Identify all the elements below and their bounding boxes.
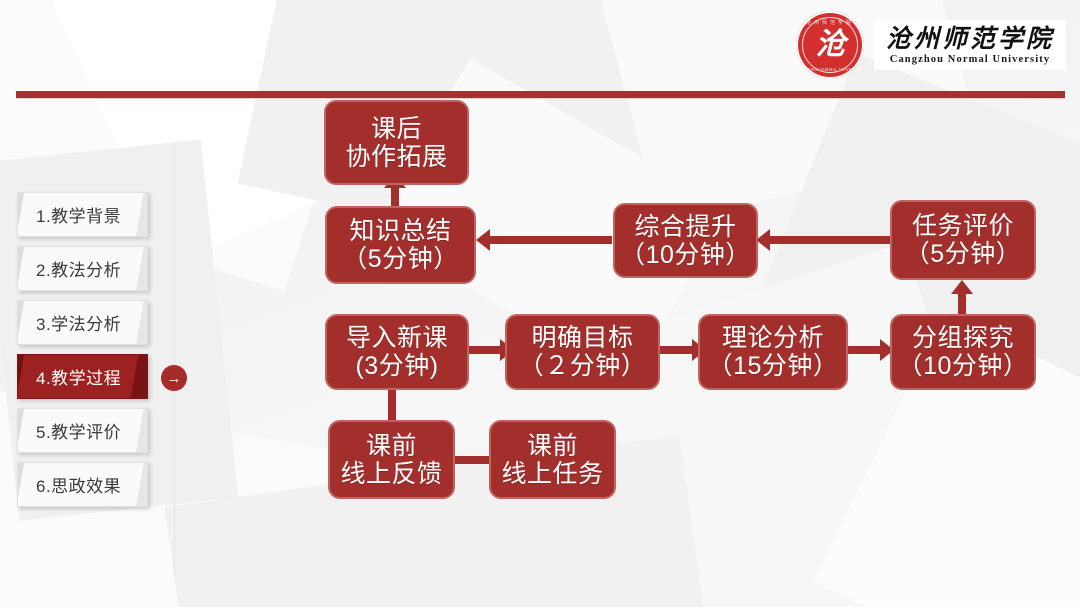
node-clear-goal-line1: 明确目标 [531,324,633,352]
node-post-class-line1: 课后 [371,115,422,143]
node-theory-analysis-line1: 理论分析 [722,324,824,352]
teaching-process-flowchart: 课后 协作拓展 知识总结 （5分钟） 综合提升 （10分钟） 任务评价 （5分钟… [0,0,1080,607]
node-clear-goal[interactable]: 明确目标 （２分钟） [505,314,660,390]
node-comprehensive-line1: 综合提升 [634,213,736,241]
node-pre-class-feedback-line1: 课前 [366,432,417,460]
node-task-evaluation[interactable]: 任务评价 （5分钟） [890,200,1036,280]
node-lead-in-line1: 导入新课 [346,324,448,352]
node-lead-in[interactable]: 导入新课 (3分钟) [325,314,469,390]
node-group-inquiry-line1: 分组探究 [912,324,1014,352]
connector-cleargoal-to-theory [660,346,696,354]
node-pre-class-task-line2: 线上任务 [501,460,603,488]
node-knowledge-summary-line1: 知识总结 [349,217,451,245]
node-clear-goal-line2: （２分钟） [519,352,647,380]
node-post-class[interactable]: 课后 协作拓展 [324,100,469,185]
connector-taskeval-to-comprehensive [770,236,892,244]
node-pre-class-task-line1: 课前 [527,432,578,460]
node-comprehensive-line2: （10分钟） [620,241,751,269]
connector-prefeedback-to-leadin [388,385,396,421]
node-theory-analysis[interactable]: 理论分析 （15分钟） [698,314,848,390]
connector-pretask-to-prefeedback [452,456,494,464]
node-post-class-line2: 协作拓展 [345,143,447,171]
node-lead-in-line2: (3分钟) [355,352,438,380]
node-knowledge-summary[interactable]: 知识总结 （5分钟） [325,206,476,284]
node-task-evaluation-line1: 任务评价 [912,212,1014,240]
node-pre-class-feedback-line2: 线上反馈 [340,460,442,488]
connector-comprehensive-to-summary [490,236,612,244]
connector-comprehensive-to-summary-head [476,229,490,251]
node-pre-class-feedback[interactable]: 课前 线上反馈 [328,420,455,499]
node-task-evaluation-line2: （5分钟） [905,240,1021,268]
slide-canvas: 沧州师范学院 沧 CANGZHOU NORMAL UNIVERSITY 沧州师范… [0,0,1080,607]
connector-theory-to-group [848,346,884,354]
connector-taskeval-to-comprehensive-head [756,229,770,251]
node-comprehensive[interactable]: 综合提升 （10分钟） [613,203,758,278]
node-group-inquiry[interactable]: 分组探究 （10分钟） [890,314,1036,390]
node-group-inquiry-line2: （10分钟） [898,352,1029,380]
connector-group-to-taskeval-head [951,280,973,294]
node-theory-analysis-line2: （15分钟） [708,352,839,380]
node-knowledge-summary-line2: （5分钟） [342,245,458,273]
node-pre-class-task[interactable]: 课前 线上任务 [489,420,616,499]
connector-leadin-to-cleargoal [468,346,504,354]
